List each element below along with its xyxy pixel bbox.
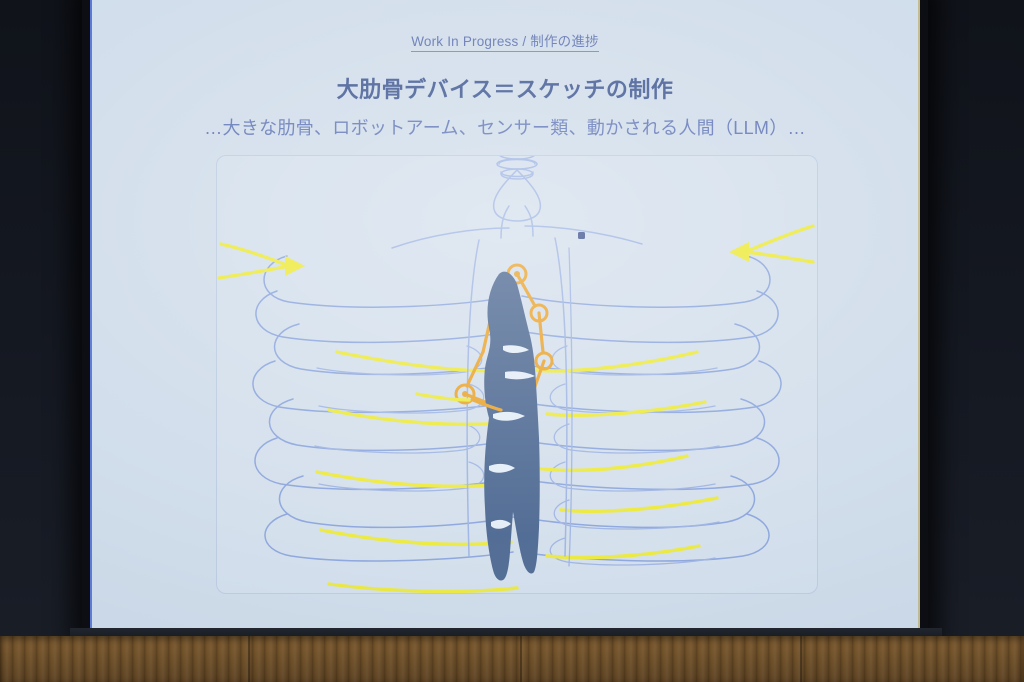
slide-subtitle: …大きな肋骨、ロボットアーム、センサー類、動かされる人間（LLM）… [90,114,920,140]
rib-loops-inner-left [315,346,484,491]
wood-credenza [0,636,1024,682]
slide-eyebrow: Work In Progress / 制作の進捗 [90,30,920,50]
spine-line [569,248,572,566]
rib-loops-right [520,256,781,561]
slide-content-frame: .rib { fill:none; stroke:#8aa4dc; stroke… [216,155,818,594]
room-scene: Work In Progress / 制作の進捗 大肋骨デバイス＝スケッチの制作… [0,0,1024,682]
wood-seam [248,636,250,682]
head-bulb [494,170,541,221]
presentation-slide: Work In Progress / 制作の進捗 大肋骨デバイス＝スケッチの制作… [90,0,920,632]
wood-seam [800,636,802,682]
concept-sketch: .rib { fill:none; stroke:#8aa4dc; stroke… [217,156,817,593]
wood-seam [520,636,522,682]
tv-screen: Work In Progress / 制作の進捗 大肋骨デバイス＝スケッチの制作… [90,0,920,632]
marker-dot [578,232,585,239]
sensor-node-left [219,244,305,278]
sensor-node-right [729,226,813,262]
rib-loops-left [253,256,514,561]
head-coil [497,156,537,179]
slide-eyebrow-text: Work In Progress / 制作の進捗 [411,34,599,52]
slide-title: 大肋骨デバイス＝スケッチの制作 [90,72,920,104]
rib-loops-inner-right [550,346,719,565]
